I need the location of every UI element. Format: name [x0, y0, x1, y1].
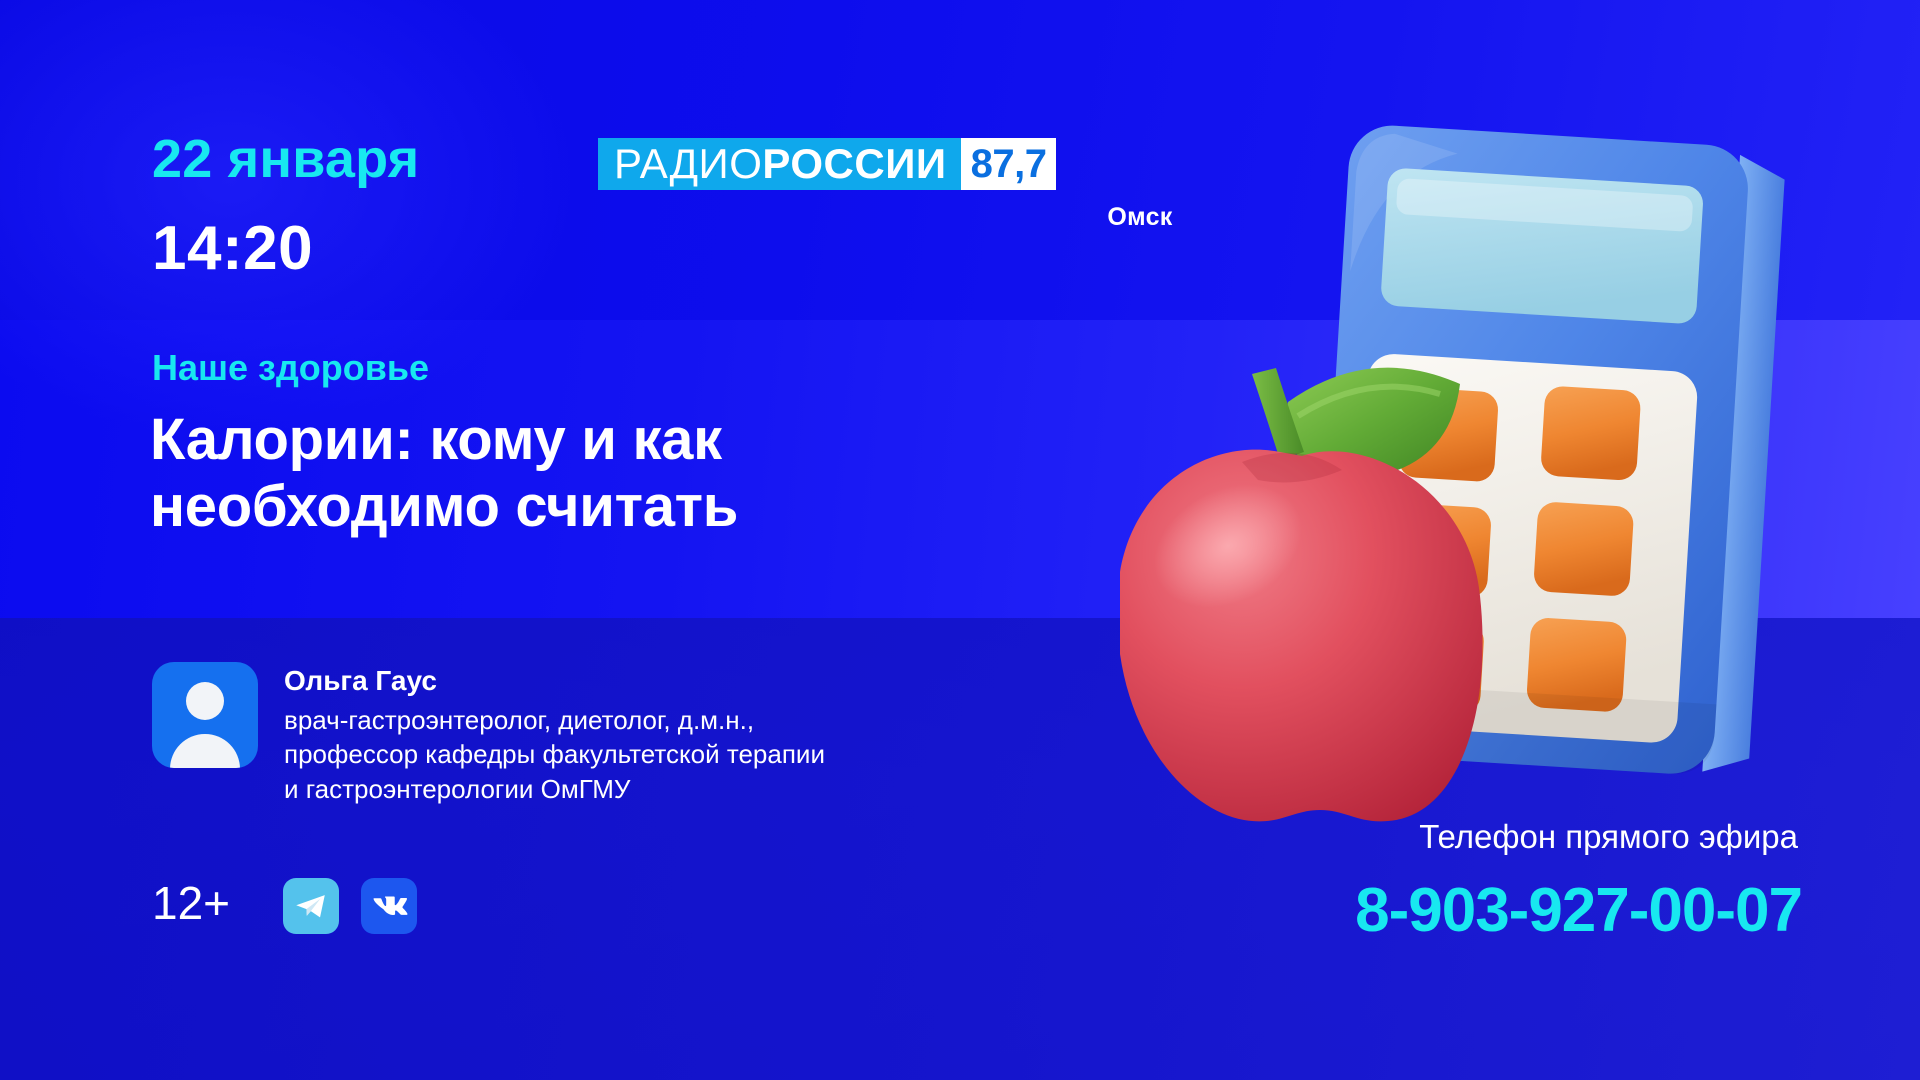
speaker-block: Ольга Гаус врач-гастроэнтеролог, диетоло…: [152, 662, 825, 807]
station-logo[interactable]: РАДИОРОССИИ 87,7: [598, 138, 1056, 190]
telegram-icon: [296, 895, 325, 917]
station-city: Омск: [1070, 205, 1210, 230]
station-name-bold: РОССИИ: [762, 143, 946, 185]
avatar-body: [170, 734, 240, 768]
speaker-text: Ольга Гаус врач-гастроэнтеролог, диетоло…: [284, 662, 825, 807]
programme-title: Калории: кому и как необходимо считать: [150, 406, 980, 541]
live-phone-label: Телефон прямого эфира: [1419, 820, 1798, 853]
vkontakte-link[interactable]: [361, 878, 417, 934]
vk-icon: [374, 896, 408, 915]
speaker-name: Ольга Гаус: [284, 664, 825, 698]
speaker-role-line-1: врач-гастроэнтеролог, диетолог, д.м.н.,: [284, 703, 825, 738]
station-name-block: РАДИОРОССИИ: [598, 138, 961, 190]
programme-series-name: Наше здоровье: [152, 350, 429, 386]
broadcast-time: 14:20: [152, 218, 313, 280]
person-avatar-icon: [152, 662, 258, 768]
broadcast-announcement-poster: 22 января 14:20 РАДИОРОССИИ 87,7 Омск На…: [0, 0, 1920, 1080]
social-links: [283, 878, 417, 934]
station-name-light: РАДИО: [614, 143, 762, 185]
speaker-role-line-3: и гастроэнтерологии ОмГМУ: [284, 772, 825, 807]
station-frequency-block: 87,7: [961, 138, 1057, 190]
content-layer: 22 января 14:20 РАДИОРОССИИ 87,7 Омск На…: [0, 0, 1920, 1080]
speaker-role-line-2: профессор кафедры факультетской терапии: [284, 737, 825, 772]
telegram-link[interactable]: [283, 878, 339, 934]
live-phone-number[interactable]: 8-903-927-00-07: [1355, 880, 1802, 942]
avatar-head: [186, 682, 224, 720]
age-rating-badge: 12+: [152, 880, 230, 926]
station-frequency: 87,7: [971, 144, 1047, 184]
broadcast-date: 22 января: [152, 132, 419, 186]
